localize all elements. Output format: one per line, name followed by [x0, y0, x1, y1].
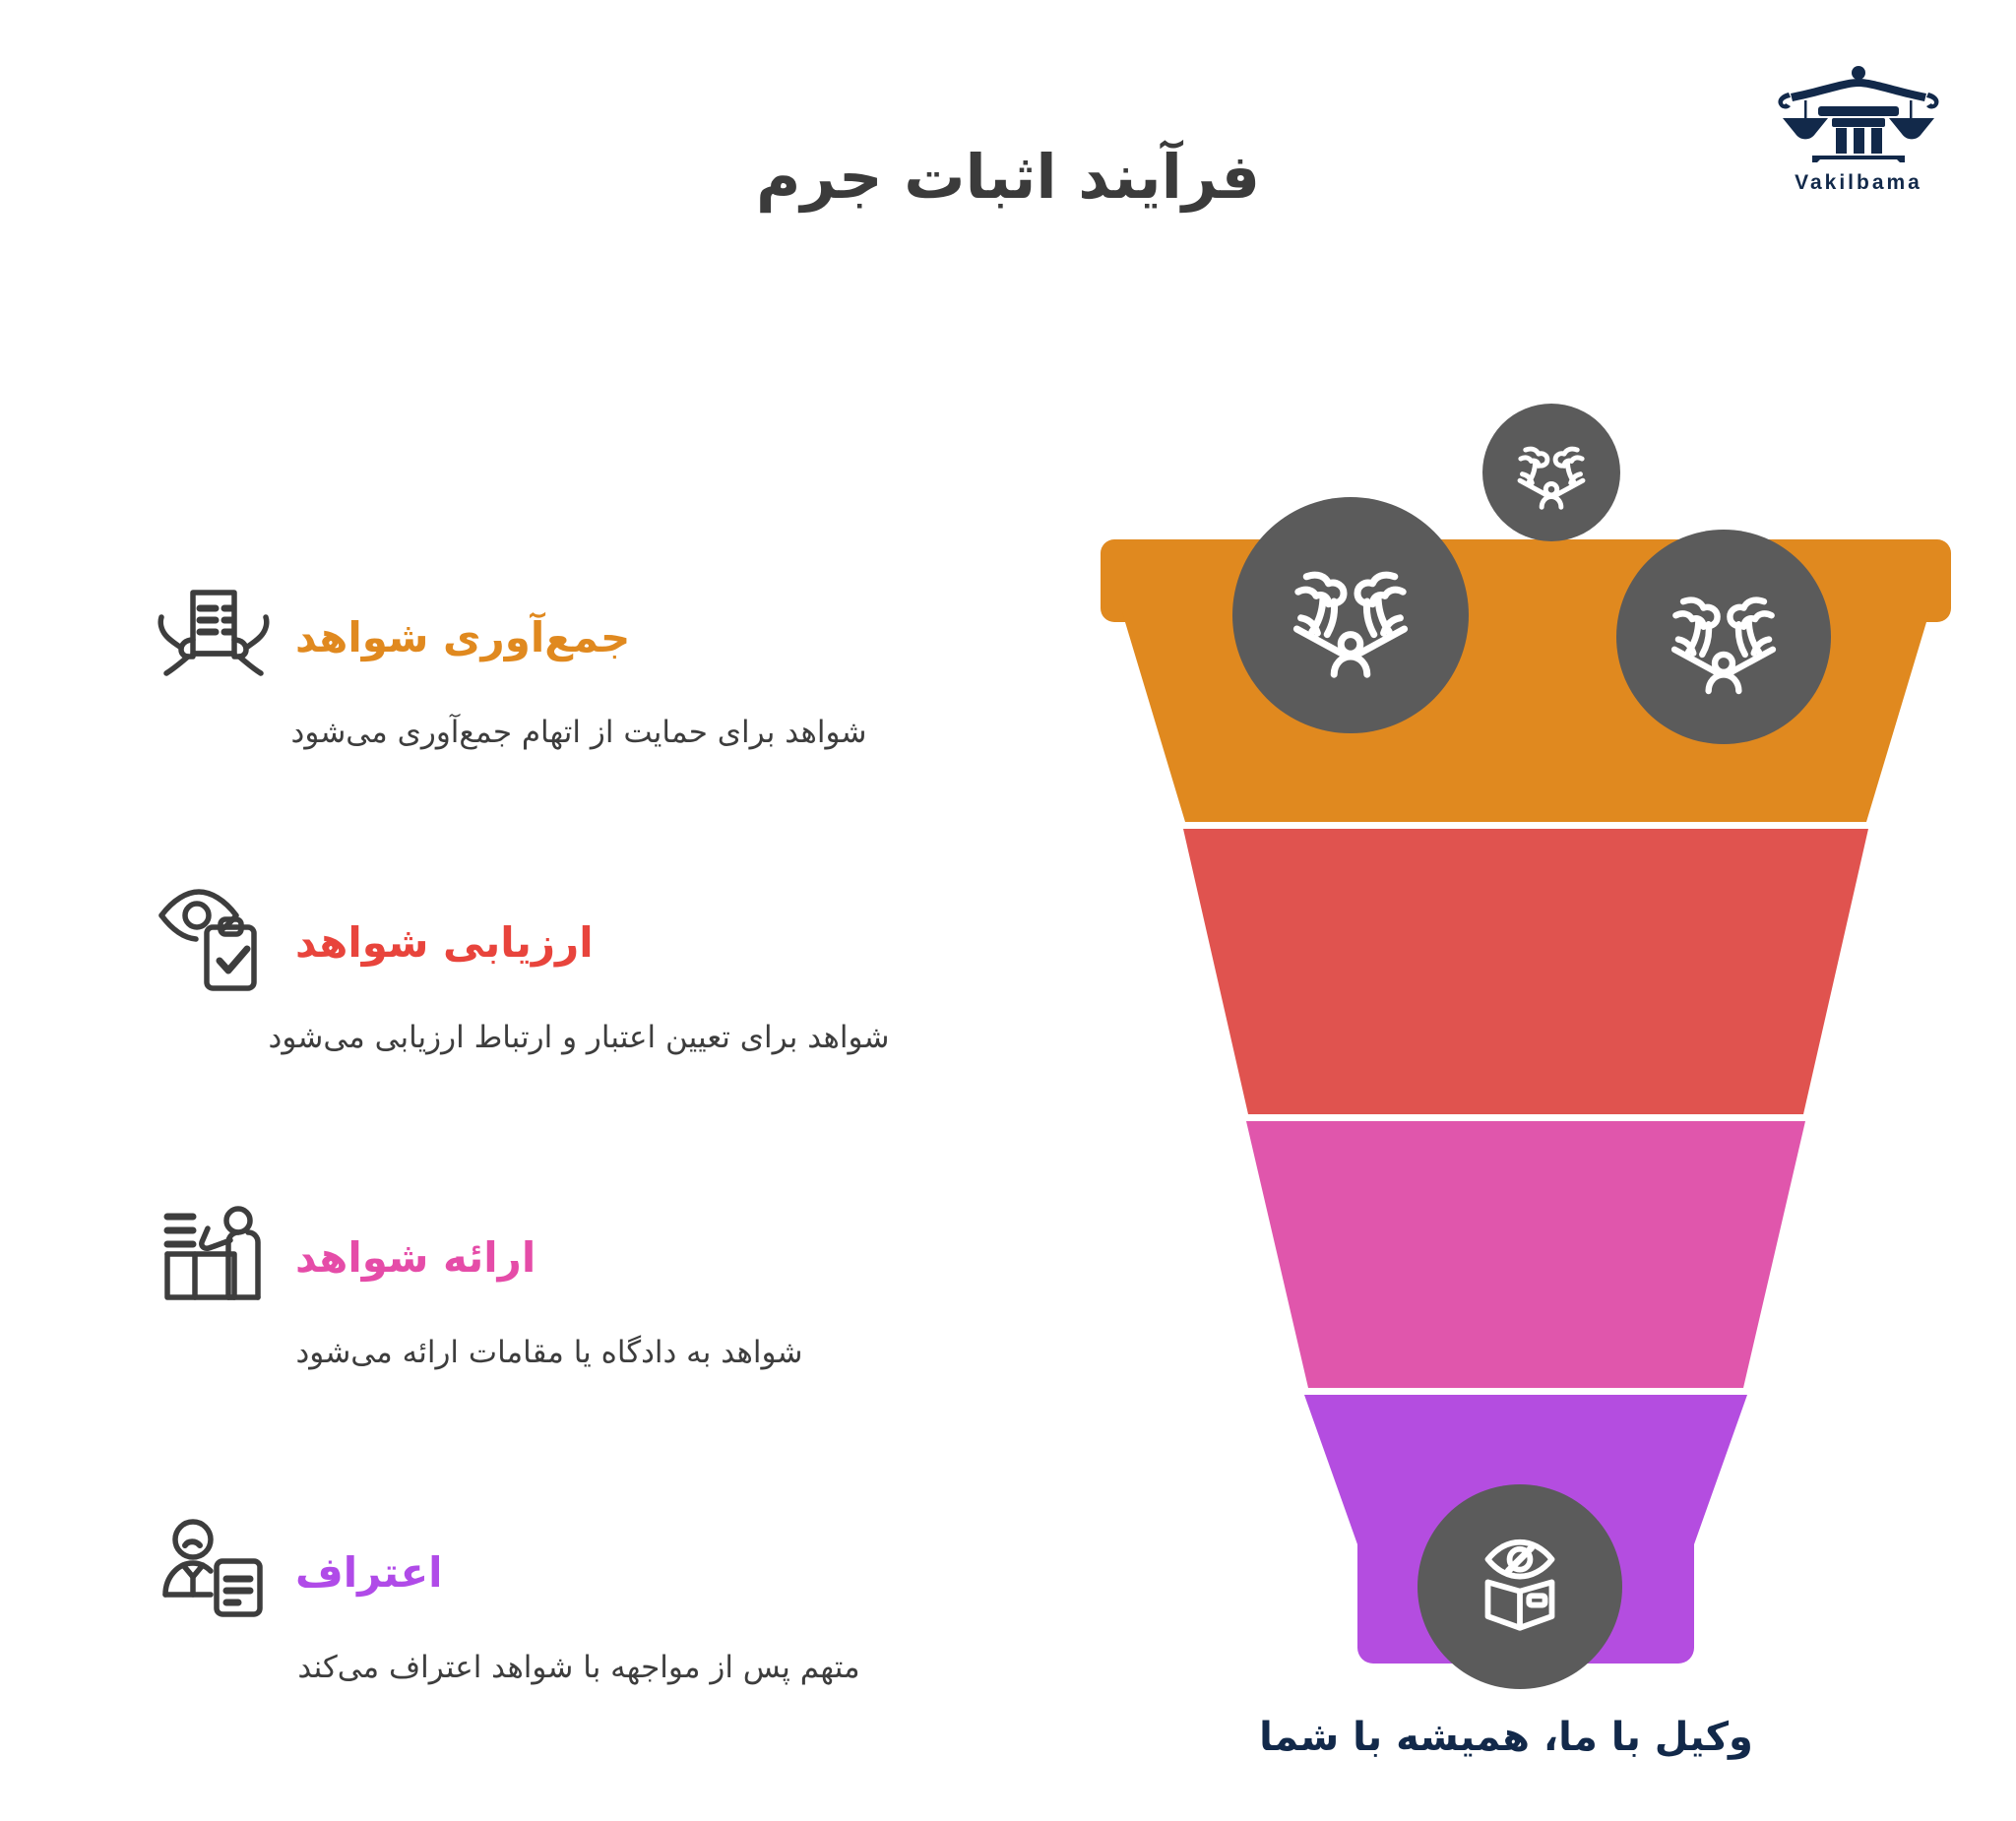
funnel-chart	[1083, 404, 1969, 1703]
funnel-band-1	[1101, 539, 1951, 822]
bubble-right	[1616, 530, 1831, 744]
bubble-left	[1232, 497, 1469, 733]
hidden-evidence-box-icon	[1463, 1530, 1577, 1644]
funnel-band-3	[1246, 1121, 1805, 1388]
footer-tagline: وکیل با ما، همیشه با شما	[1073, 1715, 1939, 1760]
page-title: فرآیند اثبات جرم	[0, 141, 2016, 213]
step-description: شواهد به دادگاه یا مقامات ارائه می‌شود	[156, 1335, 1002, 1370]
step-header: اعتراف	[156, 1514, 1002, 1630]
crime-scene-smoke-person-icon	[1282, 546, 1419, 684]
crime-scene-smoke-person-icon	[1511, 432, 1592, 513]
step-header: ارزیابی شواهد	[156, 884, 1002, 1000]
bubble-bottom	[1417, 1484, 1622, 1689]
step-title: جمع‌آوری شواهد	[295, 613, 630, 661]
funnel-band-2	[1183, 829, 1868, 1114]
step-title: ارزیابی شواهد	[295, 918, 594, 967]
step-description: متهم پس از مواجهه با شواهد اعتراف می‌کند	[156, 1650, 1002, 1685]
step-description: شواهد برای حمایت از اتهام جمع‌آوری می‌شو…	[156, 715, 1002, 750]
step-header: جمع‌آوری شواهد	[156, 579, 1002, 695]
step-item-2: ارزیابی شواهد شواهد برای تعیین اعتبار و …	[156, 884, 1002, 1055]
step-title: ارائه شواهد	[295, 1233, 535, 1282]
step-title: اعتراف	[295, 1548, 443, 1597]
crime-scene-smoke-person-icon	[1661, 574, 1787, 700]
step-item-4: اعتراف متهم پس از مواجهه با شواهد اعتراف…	[156, 1514, 1002, 1685]
person-presenting-podium-icon	[156, 1199, 272, 1315]
step-header: ارائه شواهد	[156, 1199, 1002, 1315]
eye-clipboard-check-icon	[156, 884, 272, 1000]
step-description: شواهد برای تعیین اعتبار و ارتباط ارزیابی…	[156, 1020, 1002, 1055]
hands-holding-document-icon	[156, 579, 272, 695]
step-item-1: جمع‌آوری شواهد شواهد برای حمایت از اتهام…	[156, 579, 1002, 750]
sad-person-document-icon	[156, 1514, 272, 1630]
step-item-3: ارائه شواهد شواهد به دادگاه یا مقامات ار…	[156, 1199, 1002, 1370]
bubble-top	[1482, 404, 1620, 541]
